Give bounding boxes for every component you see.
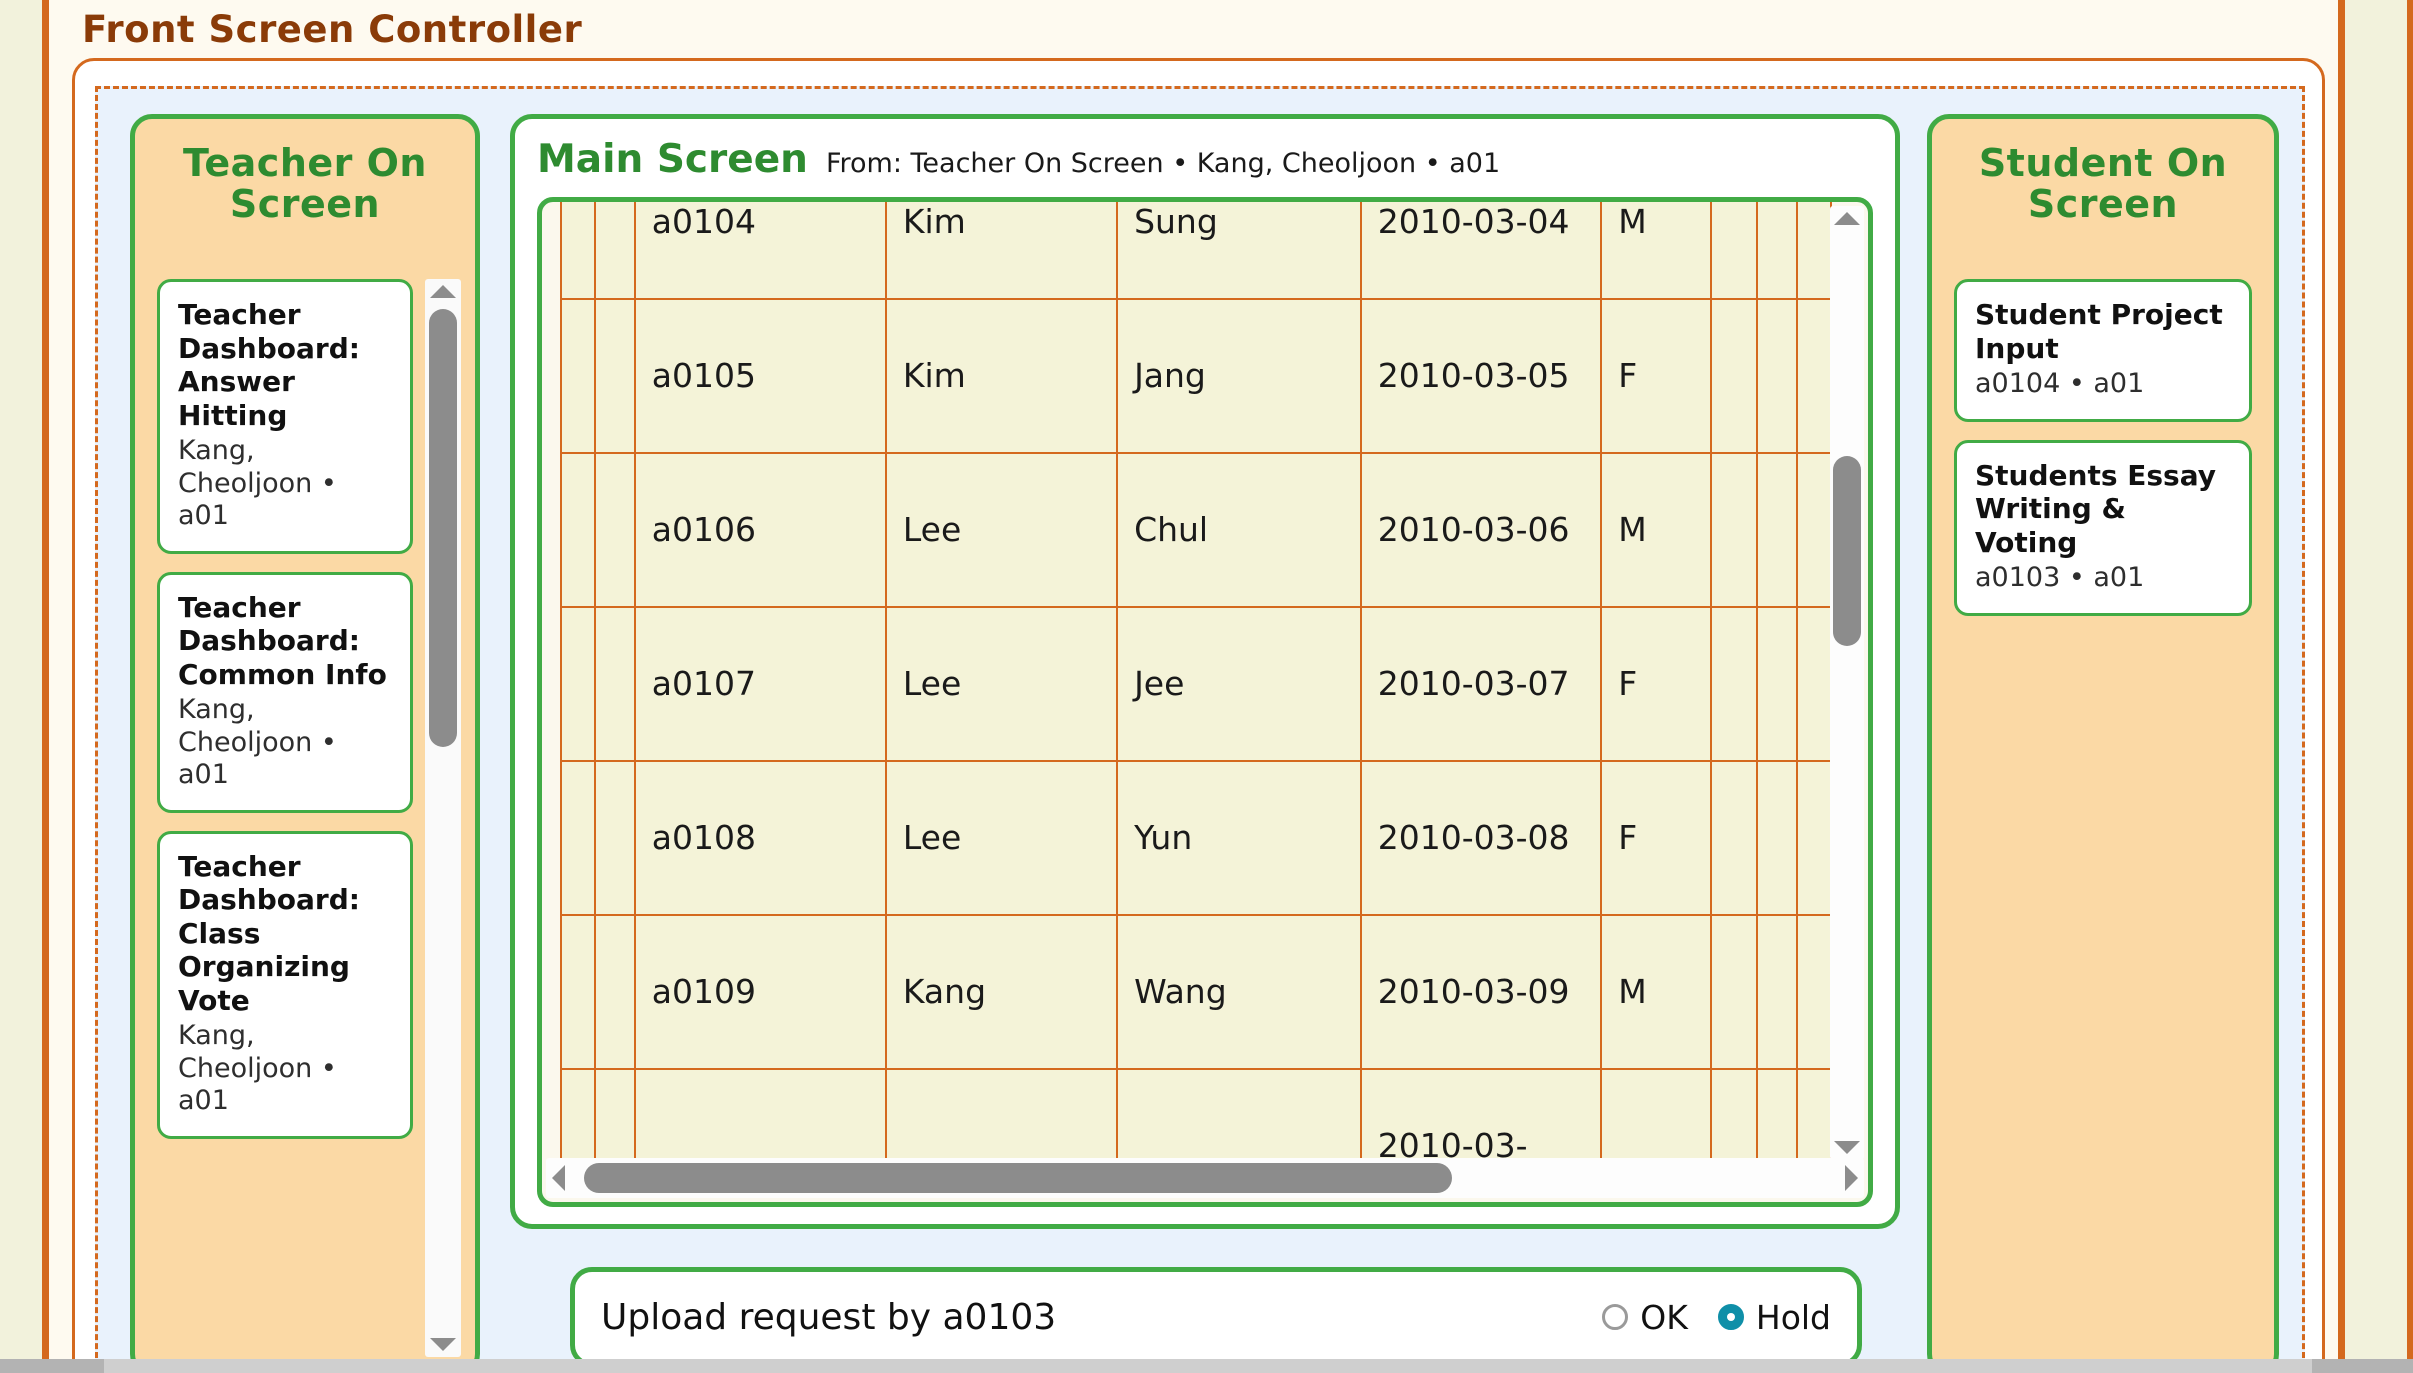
table-cell-first[interactable]: Jang [1117, 299, 1361, 453]
table-cell-first[interactable]: Yun [1117, 761, 1361, 915]
data-table-clip: a0104 Kim Sung 2010-03-04 M a [542, 202, 1832, 1164]
upload-request-bar: Upload request by a0103 OK Hold [570, 1267, 1862, 1367]
table-cell-gender[interactable]: M [1601, 453, 1710, 607]
table-cell-date[interactable]: 2010-03- [1361, 1069, 1601, 1164]
table-row[interactable]: 2010-03- [561, 1069, 1831, 1164]
table-cell-gender[interactable]: F [1601, 607, 1710, 761]
table-cell-gender[interactable]: M [1601, 202, 1710, 299]
table-cell-pad [1711, 202, 1758, 299]
card-subtitle: Kang, Cheoljoon • a01 [178, 435, 392, 532]
table-cell-pad [1797, 453, 1831, 607]
right-edge-rule-outer [2407, 0, 2413, 1373]
table-cell-id[interactable]: a0107 [635, 607, 886, 761]
request-action-radio-group[interactable]: OK Hold [1602, 1298, 1831, 1337]
table-cell-pad [595, 453, 635, 607]
main-screen-header: Main Screen From: Teacher On Screen • Ka… [537, 137, 1875, 182]
card-title: Teacher Dashboard: Answer Hitting [178, 298, 392, 432]
scroll-down-arrow-icon[interactable] [430, 1338, 456, 1351]
table-cell-pad [561, 1069, 595, 1164]
table-cell-pad [1711, 915, 1758, 1069]
teacher-card-list[interactable]: Teacher Dashboard: Answer Hitting Kang, … [157, 279, 413, 1357]
radio-hold-icon[interactable] [1718, 1304, 1744, 1330]
table-row[interactable]: a0106 Lee Chul 2010-03-06 M [561, 453, 1831, 607]
table-row[interactable]: a0108 Lee Yun 2010-03-08 F [561, 761, 1831, 915]
table-cell-last[interactable]: Kang [886, 915, 1117, 1069]
right-edge-rule-inner [2338, 0, 2345, 1373]
table-cell-pad [1797, 915, 1831, 1069]
table-cell-last[interactable] [886, 1069, 1117, 1164]
teacher-on-screen-panel: Teacher On Screen Teacher Dashboard: Ans… [130, 114, 480, 1373]
page-title: Front Screen Controller [82, 8, 582, 51]
request-message: Upload request by a0103 [601, 1297, 1056, 1338]
main-screen-source-label: From: Teacher On Screen • Kang, Cheoljoo… [826, 148, 1500, 179]
table-cell-pad [1757, 453, 1797, 607]
table-cell-pad [561, 915, 595, 1069]
main-screen-title: Main Screen [537, 137, 808, 182]
card-title: Teacher Dashboard: Common Info [178, 591, 392, 692]
table-cell-gender[interactable]: M [1601, 915, 1710, 1069]
table-horizontal-scrollbar[interactable] [546, 1158, 1864, 1198]
table-cell-date[interactable]: 2010-03-04 [1361, 202, 1601, 299]
card-subtitle: a0103 • a01 [1975, 562, 2231, 594]
table-cell-first[interactable]: Sung [1117, 202, 1361, 299]
table-cell-id[interactable]: a0104 [635, 202, 886, 299]
card-title: Teacher Dashboard: Class Organizing Vote [178, 850, 392, 1018]
list-item[interactable]: Teacher Dashboard: Common Info Kang, Che… [157, 572, 413, 813]
table-cell-last[interactable]: Kim [886, 299, 1117, 453]
table-cell-pad [1711, 607, 1758, 761]
radio-option-hold[interactable]: Hold [1718, 1298, 1831, 1337]
radio-ok-icon[interactable] [1602, 1304, 1628, 1330]
radio-hold-label: Hold [1756, 1298, 1831, 1337]
table-row[interactable]: a0109 Kang Wang 2010-03-09 M [561, 915, 1831, 1069]
student-on-screen-panel: Student On Screen Student Project Input … [1927, 114, 2279, 1373]
table-cell-first[interactable]: Wang [1117, 915, 1361, 1069]
table-cell-pad [595, 299, 635, 453]
table-cell-id[interactable]: a0109 [635, 915, 886, 1069]
table-cell-pad [561, 202, 595, 299]
card-subtitle: a0104 • a01 [1975, 368, 2231, 400]
table-cell-date[interactable]: 2010-03-06 [1361, 453, 1601, 607]
table-cell-date[interactable]: 2010-03-07 [1361, 607, 1601, 761]
student-card-list[interactable]: Student Project Input a0104 • a01 Studen… [1954, 279, 2252, 1357]
table-cell-first[interactable] [1117, 1069, 1361, 1164]
table-cell-pad [1797, 1069, 1831, 1164]
scrollbar-thumb[interactable] [584, 1163, 1452, 1193]
table-cell-pad [1797, 761, 1831, 915]
table-cell-id[interactable] [635, 1069, 886, 1164]
scroll-up-arrow-icon[interactable] [1834, 212, 1860, 225]
right-edge-strip [2345, 0, 2407, 1373]
table-cell-last[interactable]: Lee [886, 761, 1117, 915]
table-cell-pad [595, 915, 635, 1069]
card-subtitle: Kang, Cheoljoon • a01 [178, 1020, 392, 1117]
table-cell-pad [595, 761, 635, 915]
table-cell-last[interactable]: Lee [886, 453, 1117, 607]
table-cell-pad [1711, 761, 1758, 915]
table-cell-pad [595, 202, 635, 299]
left-edge-rule [42, 0, 49, 1373]
teacher-panel-heading: Teacher On Screen [135, 119, 475, 225]
table-cell-pad [1757, 761, 1797, 915]
scrollbar-thumb[interactable] [429, 309, 457, 747]
table-cell-id[interactable]: a0105 [635, 299, 886, 453]
radio-ok-label: OK [1640, 1298, 1688, 1337]
data-table[interactable]: a0104 Kim Sung 2010-03-04 M a [560, 202, 1832, 1164]
table-cell-pad [595, 607, 635, 761]
table-cell-last[interactable]: Lee [886, 607, 1117, 761]
table-cell-last[interactable]: Kim [886, 202, 1117, 299]
table-row[interactable]: a0105 Kim Jang 2010-03-05 F [561, 299, 1831, 453]
table-cell-pad [1711, 1069, 1758, 1164]
list-item[interactable]: Teacher Dashboard: Class Organizing Vote… [157, 831, 413, 1139]
scroll-right-arrow-icon[interactable] [1845, 1165, 1858, 1191]
scroll-up-arrow-icon[interactable] [430, 285, 456, 298]
table-cell-id[interactable]: a0108 [635, 761, 886, 915]
list-item[interactable]: Teacher Dashboard: Answer Hitting Kang, … [157, 279, 413, 554]
table-cell-date[interactable]: 2010-03-09 [1361, 915, 1601, 1069]
table-cell-date[interactable]: 2010-03-08 [1361, 761, 1601, 915]
scroll-left-arrow-icon[interactable] [552, 1165, 565, 1191]
table-cell-pad [561, 299, 595, 453]
card-title: Student Project Input [1975, 298, 2231, 365]
table-cell-pad [1711, 453, 1758, 607]
scroll-down-arrow-icon[interactable] [1834, 1141, 1860, 1154]
card-title: Students Essay Writing & Voting [1975, 459, 2231, 560]
table-cell-gender[interactable]: F [1601, 299, 1710, 453]
student-panel-heading: Student On Screen [1932, 119, 2274, 225]
table-cell-first[interactable]: Jee [1117, 607, 1361, 761]
table-cell-first[interactable]: Chul [1117, 453, 1361, 607]
table-cell-date[interactable]: 2010-03-05 [1361, 299, 1601, 453]
table-cell-pad [1797, 299, 1831, 453]
list-item[interactable]: Student Project Input a0104 • a01 [1954, 279, 2252, 422]
table-cell-pad [561, 453, 595, 607]
table-cell-pad [1711, 299, 1758, 453]
table-cell-pad [1757, 607, 1797, 761]
table-cell-pad [561, 607, 595, 761]
data-table-viewport[interactable]: a0104 Kim Sung 2010-03-04 M a [537, 197, 1873, 1207]
table-vertical-scrollbar[interactable] [1830, 206, 1864, 1160]
table-cell-pad [1797, 202, 1831, 299]
table-cell-pad [1757, 1069, 1797, 1164]
radio-option-ok[interactable]: OK [1602, 1298, 1688, 1337]
app-window: Front Screen Controller Teacher On Scree… [0, 0, 2413, 1373]
table-cell-pad [1757, 299, 1797, 453]
table-row[interactable]: a0104 Kim Sung 2010-03-04 M [561, 202, 1831, 299]
left-edge-strip [0, 0, 42, 1373]
table-cell-pad [1797, 607, 1831, 761]
table-cell-id[interactable]: a0106 [635, 453, 886, 607]
table-cell-pad [1757, 915, 1797, 1069]
table-cell-gender[interactable]: F [1601, 761, 1710, 915]
scrollbar-thumb[interactable] [104, 1359, 2312, 1373]
table-cell-pad [1757, 202, 1797, 299]
table-cell-pad [595, 1069, 635, 1164]
list-item[interactable]: Students Essay Writing & Voting a0103 • … [1954, 440, 2252, 616]
card-subtitle: Kang, Cheoljoon • a01 [178, 694, 392, 791]
table-cell-pad [561, 761, 595, 915]
browser-horizontal-scrollbar[interactable] [0, 1359, 2413, 1373]
teacher-list-scrollbar[interactable] [425, 279, 461, 1357]
scrollbar-thumb[interactable] [1833, 456, 1861, 646]
table-cell-gender[interactable] [1601, 1069, 1710, 1164]
table-row[interactable]: a0107 Lee Jee 2010-03-07 F [561, 607, 1831, 761]
main-screen-panel: Main Screen From: Teacher On Screen • Ka… [510, 114, 1900, 1229]
